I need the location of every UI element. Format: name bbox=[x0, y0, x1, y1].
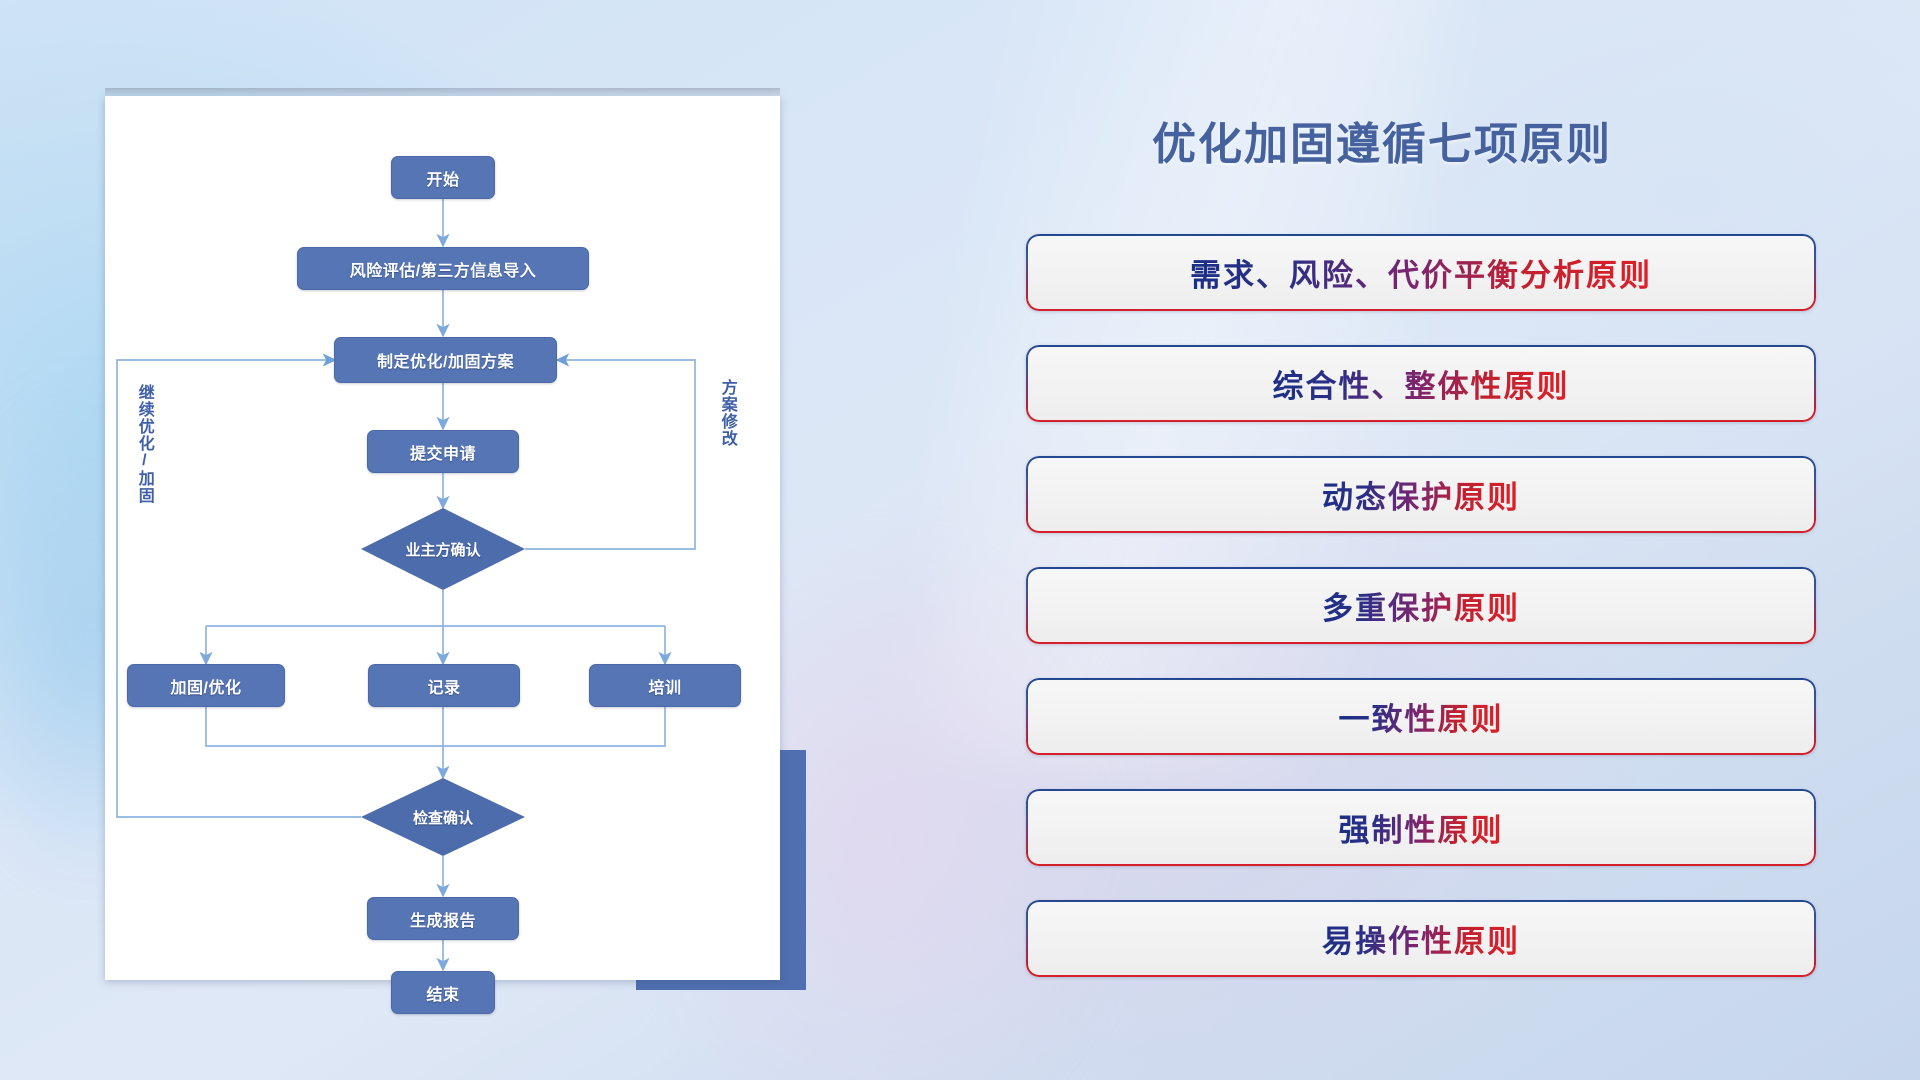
principles-list: 需求、风险、代价平衡分析原则 综合性、整体性原则 动态保护原则 多重保护原则 一… bbox=[1026, 234, 1816, 1011]
flow-node-submit-application[interactable]: 提交申请 bbox=[367, 430, 519, 473]
flow-node-end[interactable]: 结束 bbox=[391, 971, 495, 1014]
flow-edge-label-continue-optimize: 继续优化/加固 bbox=[135, 384, 152, 504]
flow-node-check-confirm[interactable]: 检查确认 bbox=[361, 778, 525, 856]
principle-label: 多重保护原则 bbox=[1322, 583, 1520, 628]
flow-node-generate-report[interactable]: 生成报告 bbox=[367, 897, 519, 940]
principle-label: 易操作性原则 bbox=[1322, 916, 1520, 961]
flow-node-training[interactable]: 培训 bbox=[589, 664, 741, 707]
principle-item-3[interactable]: 动态保护原则 bbox=[1026, 456, 1816, 533]
page-title: 优化加固遵循七项原则 bbox=[1152, 108, 1612, 172]
principle-label: 动态保护原则 bbox=[1322, 472, 1520, 517]
principle-item-7[interactable]: 易操作性原则 bbox=[1026, 900, 1816, 977]
slide-root: 开始 风险评估/第三方信息导入 制定优化/加固方案 提交申请 业主方确认 加固/… bbox=[0, 0, 1920, 1080]
principle-item-6[interactable]: 强制性原则 bbox=[1026, 789, 1816, 866]
principle-label: 需求、风险、代价平衡分析原则 bbox=[1190, 250, 1652, 295]
principle-item-4[interactable]: 多重保护原则 bbox=[1026, 567, 1816, 644]
principle-label: 强制性原则 bbox=[1339, 805, 1504, 850]
flowchart-card: 开始 风险评估/第三方信息导入 制定优化/加固方案 提交申请 业主方确认 加固/… bbox=[105, 96, 780, 980]
principle-item-2[interactable]: 综合性、整体性原则 bbox=[1026, 345, 1816, 422]
flow-node-risk-assessment[interactable]: 风险评估/第三方信息导入 bbox=[297, 247, 589, 290]
principle-label: 一致性原则 bbox=[1339, 694, 1504, 739]
principle-item-5[interactable]: 一致性原则 bbox=[1026, 678, 1816, 755]
flow-node-start[interactable]: 开始 bbox=[391, 156, 495, 199]
flow-node-owner-confirm[interactable]: 业主方确认 bbox=[361, 508, 525, 590]
flow-node-reinforce-optimize[interactable]: 加固/优化 bbox=[127, 664, 285, 707]
flow-edge-label-plan-revision: 方案修改 bbox=[718, 379, 735, 447]
principle-label: 综合性、整体性原则 bbox=[1273, 361, 1570, 406]
principle-item-1[interactable]: 需求、风险、代价平衡分析原则 bbox=[1026, 234, 1816, 311]
flow-node-plan-optimization[interactable]: 制定优化/加固方案 bbox=[334, 337, 557, 383]
flow-node-record[interactable]: 记录 bbox=[368, 664, 520, 707]
